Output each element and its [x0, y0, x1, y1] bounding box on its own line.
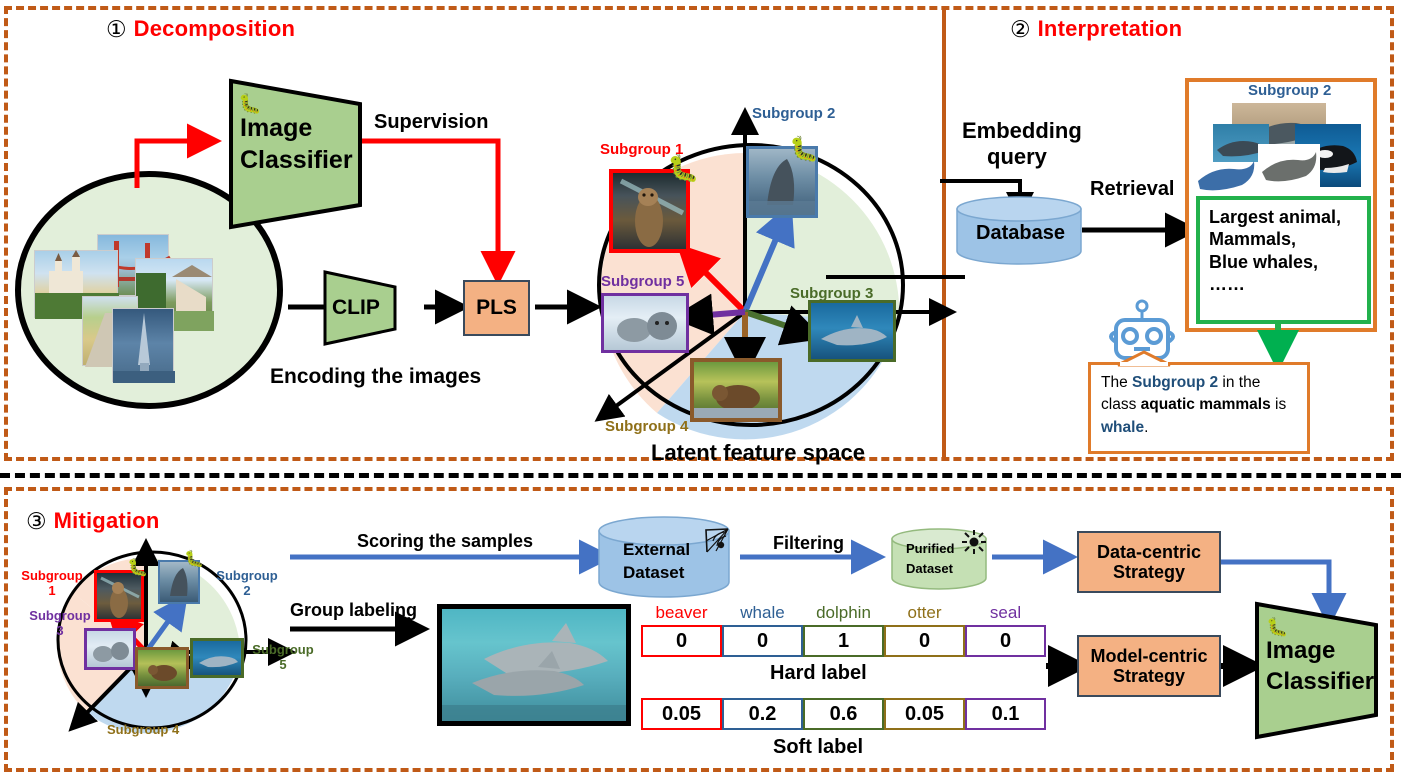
subgroup2-label-bottom: Subgroup2	[207, 568, 287, 598]
collage-sperm-whale	[1258, 144, 1320, 190]
data-centric-strategy-block[interactable]: Data-centricStrategy	[1077, 531, 1221, 593]
soft-label-cell-beaver: 0.05	[641, 698, 722, 730]
image-classifier-bottom-line1: Image	[1266, 637, 1335, 665]
purified-to-datacentric-arrow	[992, 548, 1080, 568]
retrieved-keywords-box: Largest animal, Mammals, Blue whales, ……	[1196, 196, 1371, 324]
subgroup4-label-top: Subgroup 4	[605, 418, 688, 435]
heading-mitigation: ③ Mitigation	[26, 508, 160, 534]
step-title-mitigation: Mitigation	[54, 508, 160, 534]
subgroup1-label-bottom: Subgroup1	[16, 568, 88, 598]
purified-dataset-line2: Dataset	[906, 561, 953, 576]
image-classifier-bottom-line2: Classifier	[1266, 668, 1374, 696]
conclusion-part4: .	[1144, 419, 1148, 436]
bug-icon-subgroup2-bottom: 🐛	[184, 552, 204, 568]
soft-label-cell-otter: 0.05	[884, 698, 965, 730]
step-title-interpretation: Interpretation	[1038, 16, 1183, 42]
subgroup4-label-bottom: Subgroup 4	[107, 722, 179, 737]
label-column-otter: otter	[884, 603, 965, 623]
subgroup5-thumbnail-seal	[601, 293, 689, 353]
subgroup3-label-top: Subgroup 3	[790, 285, 873, 302]
subgroup2-label-top: Subgroup 2	[752, 105, 835, 122]
retrieved-term-1: Mammals,	[1209, 228, 1358, 250]
heading-interpretation: ② Interpretation	[1010, 16, 1182, 42]
retrieval-label: Retrieval	[1090, 178, 1175, 201]
soft-label-caption: Soft label	[773, 736, 863, 759]
hard-label-caption: Hard label	[770, 662, 867, 685]
conclusion-class: aquatic mammals	[1141, 396, 1271, 413]
subgroup3-label-bottom: Subgroup3	[24, 608, 96, 638]
hard-label-cell-dolphin: 1	[803, 625, 884, 657]
retrieved-term-2: Blue whales,	[1209, 251, 1358, 273]
label-column-seal: seal	[965, 603, 1046, 623]
conclusion-box: The Subgroup 2 in the class aquatic mamm…	[1088, 362, 1310, 454]
hard-label-cell-whale: 0	[722, 625, 803, 657]
panel-divider-black-dashed	[0, 473, 1401, 478]
conclusion-answer: whale	[1101, 419, 1144, 436]
bug-icon-subgroup2: 🐛	[789, 138, 819, 162]
subgroup5-label-top: Subgroup 5	[601, 273, 684, 290]
model-centric-line1: Model-centric	[1090, 646, 1207, 666]
sparkle-icon	[962, 530, 986, 554]
subgroup5-thumbnail-dolphin-bottom	[190, 638, 244, 678]
hard-label-cell-otter: 0	[884, 625, 965, 657]
retrieved-term-0: Largest animal,	[1209, 206, 1358, 228]
latent-space-caption: Latent feature space	[651, 440, 865, 466]
clip-label: CLIP	[332, 296, 380, 320]
soft-label-cell-dolphin: 0.6	[803, 698, 884, 730]
label-column-whale: whale	[722, 603, 803, 623]
data-centric-line2: Strategy	[1113, 562, 1185, 582]
group-labeling-arrow	[290, 618, 440, 640]
subgroup5-label-bottom: Subgroup5	[245, 642, 321, 672]
model-centric-strategy-block[interactable]: Model-centricStrategy	[1077, 635, 1221, 697]
label-column-beaver: beaver	[641, 603, 722, 623]
bug-icon-subgroup1-bottom: 🐛	[127, 559, 148, 576]
filtering-arrow	[740, 548, 890, 568]
hard-label-cell-seal: 0	[965, 625, 1046, 657]
label-column-dolphin: dolphin	[803, 603, 884, 623]
subgroup1-label-top: Subgroup 1	[600, 141, 683, 158]
step-number-2: ②	[1010, 18, 1031, 41]
subgroup4-thumbnail-beaver-bottom	[135, 647, 189, 689]
bug-icon-classifier-bottom: 🐛	[1266, 618, 1288, 636]
hard-label-cell-beaver: 0	[641, 625, 722, 657]
speech-tail	[1118, 352, 1188, 366]
soft-label-cell-whale: 0.2	[722, 698, 803, 730]
step-number-3: ③	[26, 510, 47, 533]
external-dataset-line2: Dataset	[623, 563, 684, 583]
encoding-caption: Encoding the images	[270, 365, 481, 389]
bug-icon-subgroup1: 🐛	[667, 155, 699, 181]
pls-block[interactable]: PLS	[463, 280, 530, 336]
conclusion-part1: The	[1101, 374, 1132, 391]
database-label: Database	[976, 222, 1065, 245]
model-centric-line2: Strategy	[1113, 666, 1185, 686]
conclusion-part3: is	[1271, 396, 1287, 413]
subgroup1-thumbnail-otter-bottom	[94, 570, 144, 622]
collage-blue-whale	[1196, 155, 1258, 195]
figure-canvas: ① Decomposition ② Interpretation ③ Mitig…	[0, 0, 1401, 776]
scoring-arrow	[290, 548, 620, 568]
sample-image-two-dolphins	[437, 604, 631, 726]
spiderweb-icon	[704, 528, 730, 554]
subgroup4-thumbnail-beaver	[690, 358, 782, 422]
embedding-query-line1: Embedding	[962, 118, 1082, 144]
retrieved-term-3: ……	[1209, 273, 1358, 295]
data-centric-line1: Data-centric	[1097, 542, 1201, 562]
soft-label-cell-seal: 0.1	[965, 698, 1046, 730]
subgroup3-thumbnail-dolphin	[808, 300, 896, 362]
conclusion-subgroup: Subgroup 2	[1132, 374, 1218, 391]
external-dataset-line1: External	[623, 540, 690, 560]
purified-dataset-line1: Purified	[906, 541, 954, 556]
result-card-title: Subgroup 2	[1248, 82, 1331, 99]
